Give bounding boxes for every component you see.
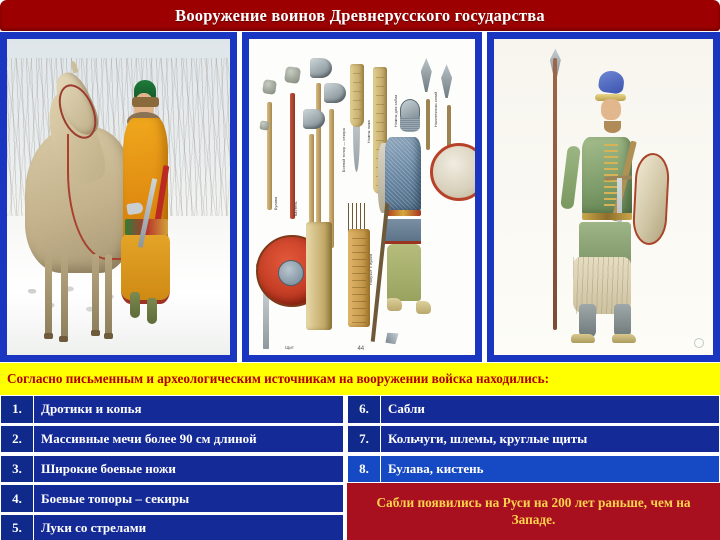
- weapons-plate-illustration: Булава Кистень Боевой топор — секира Нож…: [249, 39, 475, 355]
- axe-haft: [316, 83, 321, 228]
- spear-shaft: [553, 58, 557, 330]
- quiver-icon: [306, 222, 332, 329]
- tunic-frogging: [604, 143, 618, 206]
- row-number: 3.: [0, 455, 34, 484]
- spear-shaft: [447, 105, 451, 149]
- horse-leg: [61, 254, 68, 339]
- weapon-label: Наконечники копий: [434, 92, 438, 127]
- row-number: 4.: [0, 484, 34, 513]
- mace-haft: [290, 93, 295, 219]
- row-label: Луки со стрелами: [34, 514, 344, 540]
- table-row[interactable]: 6. Сабли: [347, 395, 720, 424]
- plate-signature: Щит: [285, 345, 294, 350]
- row-label: Дротики и копья: [34, 395, 344, 424]
- horse-leg: [105, 254, 112, 336]
- spear-shaft: [426, 99, 430, 150]
- bow-case-icon: [348, 229, 370, 327]
- green-boot: [147, 298, 157, 324]
- warrior-boot: [579, 304, 596, 338]
- mace-haft: [267, 102, 272, 209]
- battle-axe-icon: [324, 83, 346, 103]
- horse-hoof: [104, 333, 113, 339]
- chainmail-armour: [385, 137, 421, 213]
- warrior-boot: [614, 304, 631, 338]
- slide-title-bar: Вооружение воинов Древнерусского государ…: [0, 0, 720, 31]
- fur-hat-band: [132, 97, 159, 106]
- weapons-table-right-column: 6. Сабли 7. Кольчуги, шлемы, круглые щит…: [347, 395, 720, 484]
- sources-banner: Согласно письменным и археологическим ис…: [0, 363, 720, 395]
- table-row[interactable]: 1. Дротики и копья: [0, 395, 344, 424]
- horse-leg: [92, 254, 99, 333]
- image-panel-druzhinnik-with-horse[interactable]: [0, 32, 237, 362]
- spearman-illustration: [494, 39, 713, 355]
- row-number: 8.: [347, 455, 381, 484]
- battle-axe-icon: [303, 109, 325, 129]
- warrior-beard: [604, 121, 621, 133]
- decorated-belt: [582, 213, 632, 220]
- row-label: Булава, кистень: [381, 455, 720, 484]
- weapon-label: Ножны для сабли: [394, 95, 398, 127]
- table-row[interactable]: 2. Массивные мечи более 90 см длиной: [0, 425, 344, 454]
- row-number: 5.: [0, 514, 34, 540]
- sabre-note-box: Сабли появились на Руси на 200 лет раньш…: [347, 483, 720, 540]
- horse-hoof: [44, 333, 53, 339]
- weapon-label: Боевой топор — секира: [342, 128, 346, 172]
- image-strip: Булава Кистень Боевой топор — секира Нож…: [0, 32, 720, 362]
- row-number: 6.: [347, 395, 381, 424]
- druzhinnik-with-horse-illustration: [7, 39, 230, 355]
- warrior-belt: [385, 210, 421, 216]
- mail-skirt: [385, 219, 421, 244]
- mace-icon: [262, 79, 277, 95]
- warrior-shoe: [612, 334, 636, 343]
- row-label: Боевые топоры – секиры: [34, 484, 344, 513]
- warrior-trousers: [387, 244, 421, 301]
- row-number: 7.: [347, 425, 381, 454]
- horse-hoof: [59, 336, 68, 342]
- image-panel-weapons-plate[interactable]: Булава Кистень Боевой топор — секира Нож…: [242, 32, 482, 362]
- mail-aventail: [400, 118, 420, 132]
- sabre-note-text: Сабли появились на Руси на 200 лет раньш…: [355, 495, 712, 528]
- caftan-skirt: [121, 235, 170, 305]
- mace-icon: [284, 66, 301, 84]
- image-panel-spearman[interactable]: [487, 32, 720, 362]
- row-number: 1.: [0, 395, 34, 424]
- row-label: Кольчуги, шлемы, круглые щиты: [381, 425, 720, 454]
- weapons-table-left-column: 1. Дротики и копья 2. Массивные мечи бол…: [0, 395, 344, 540]
- warrior-face: [601, 99, 621, 120]
- battle-axe-icon: [310, 58, 332, 78]
- weapon-label: Кистень: [294, 201, 298, 216]
- weapon-label: Булава: [274, 196, 278, 209]
- plate-page-number: 44: [357, 346, 364, 352]
- table-row[interactable]: 7. Кольчуги, шлемы, круглые щиты: [347, 425, 720, 454]
- table-row[interactable]: 8. Булава, кистень: [347, 455, 720, 484]
- warrior-boot: [416, 301, 431, 314]
- weapons-table: 1. Дротики и копья 2. Массивные мечи бол…: [0, 395, 720, 540]
- table-row[interactable]: 5. Луки со стрелами: [0, 514, 344, 540]
- green-boot: [130, 292, 140, 318]
- weapon-label: Ножны ножа: [367, 120, 371, 143]
- knife-scabbard-icon: [350, 64, 364, 127]
- row-label: Широкие боевые ножи: [34, 455, 344, 484]
- row-number: 2.: [0, 425, 34, 454]
- artist-signature: [694, 338, 704, 348]
- row-label: Массивные мечи более 90 см длиной: [34, 425, 344, 454]
- table-row[interactable]: 4. Боевые топоры – секиры: [0, 484, 344, 513]
- warrior-boot: [387, 298, 402, 311]
- table-row[interactable]: 3. Широкие боевые ножи: [0, 455, 344, 484]
- horse-leg: [45, 254, 52, 336]
- row-label: Сабли: [381, 395, 720, 424]
- sources-banner-text: Согласно письменным и археологическим ис…: [0, 371, 549, 387]
- horse-hoof: [91, 330, 100, 336]
- warrior-shoe: [571, 334, 595, 343]
- page-title: Вооружение воинов Древнерусского государ…: [175, 6, 545, 26]
- shield-boss: [278, 260, 304, 286]
